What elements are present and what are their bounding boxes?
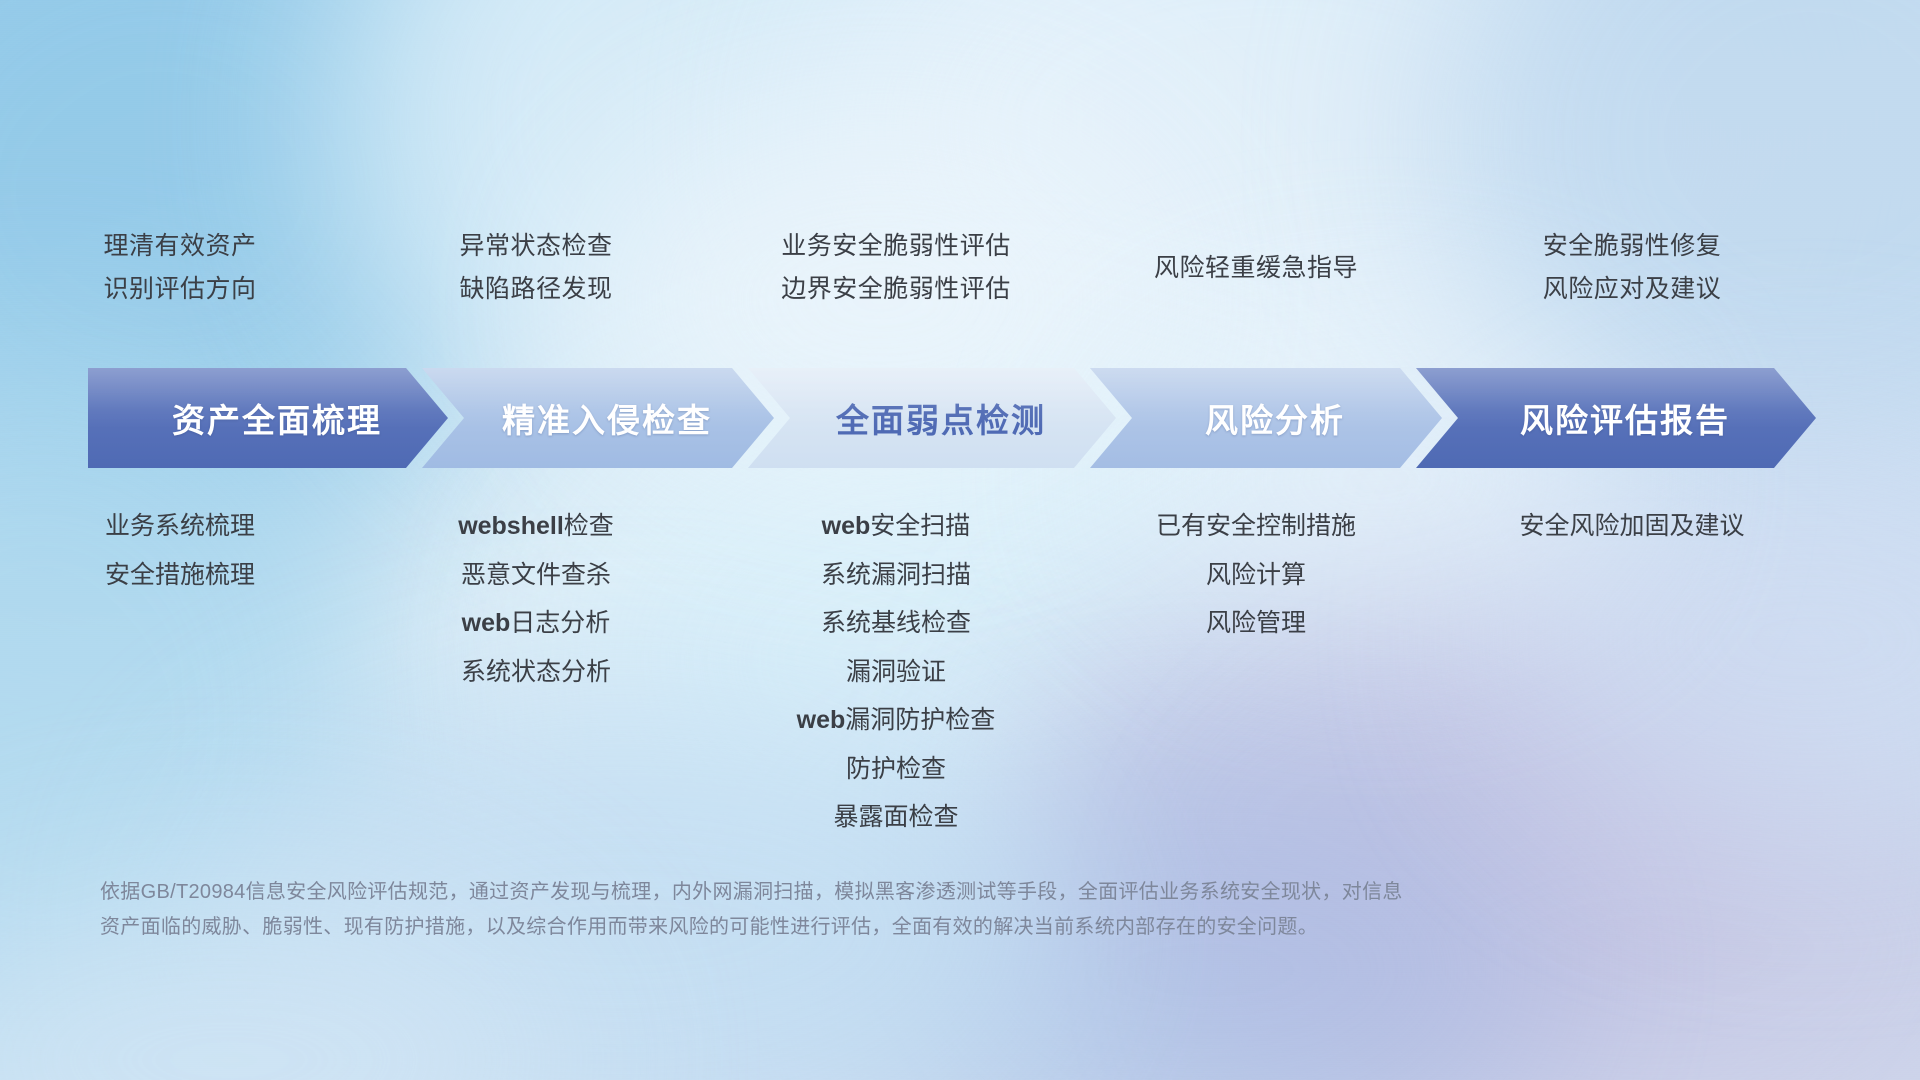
process-step-1[interactable]: 资产全面梳理	[88, 368, 448, 468]
top-captions-step-4: 风险轻重缓急指导	[1080, 230, 1432, 330]
list-item: webshell检查	[458, 510, 614, 543]
caption-text: 异常状态检查	[459, 230, 612, 263]
list-item: 安全风险加固及建议	[1519, 510, 1744, 543]
list-item: 风险计算	[1206, 559, 1306, 592]
bottom-list-step-5: 安全风险加固及建议	[1432, 510, 1832, 834]
list-item-prefix: web	[797, 706, 846, 734]
process-step-4-label: 风险分析	[1187, 394, 1345, 442]
process-step-5-label: 风险评估报告	[1502, 394, 1730, 442]
list-item: 已有安全控制措施	[1156, 510, 1356, 543]
list-item-prefix: webshell	[458, 512, 564, 540]
process-step-4[interactable]: 风险分析	[1090, 368, 1442, 468]
step-activities-bottom: 业务系统梳理 安全措施梳理 webshell检查 恶意文件查杀 web日志分析 …	[0, 510, 1920, 834]
caption-text: 安全脆弱性修复	[1543, 230, 1722, 263]
caption-text: 业务安全脆弱性评估	[781, 230, 1011, 263]
footer-line-1: 依据GB/T20984信息安全风险评估规范，通过资产发现与梳理，内外网漏洞扫描，…	[100, 875, 1660, 910]
top-captions-step-1: 理清有效资产 识别评估方向	[0, 230, 360, 330]
list-item: 系统漏洞扫描	[821, 559, 971, 592]
caption-text: 边界安全脆弱性评估	[781, 273, 1011, 306]
process-step-2-label: 精准入侵检查	[484, 394, 712, 442]
list-item-suffix: 检查	[564, 512, 614, 540]
slide-canvas: 理清有效资产 识别评估方向 异常状态检查 缺陷路径发现 业务安全脆弱性评估 边界…	[0, 0, 1920, 1080]
list-item: web日志分析	[462, 607, 611, 640]
list-item-prefix: web	[462, 609, 511, 637]
top-captions-step-3: 业务安全脆弱性评估 边界安全脆弱性评估	[712, 230, 1080, 330]
bottom-list-step-4: 已有安全控制措施 风险计算 风险管理	[1080, 510, 1432, 834]
bottom-list-step-2: webshell检查 恶意文件查杀 web日志分析 系统状态分析	[360, 510, 712, 834]
list-item: 暴露面检查	[833, 801, 958, 834]
footer-line-2: 资产面临的威胁、脆弱性、现有防护措施，以及综合作用而带来风险的可能性进行评估，全…	[100, 910, 1660, 945]
process-step-1-label: 资产全面梳理	[154, 394, 382, 442]
process-step-2[interactable]: 精准入侵检查	[422, 368, 774, 468]
caption-text: 识别评估方向	[103, 273, 256, 306]
footer-description: 依据GB/T20984信息安全风险评估规范，通过资产发现与梳理，内外网漏洞扫描，…	[100, 875, 1660, 945]
process-chevron-band: 资产全面梳理 精准入侵检查 全面弱点检测 风险分析 风险评估报告	[88, 368, 1848, 468]
list-item: 漏洞验证	[846, 656, 946, 689]
list-item: 风险管理	[1206, 607, 1306, 640]
list-item-suffix: 漏洞防护检查	[845, 706, 995, 734]
list-item-suffix: 日志分析	[510, 609, 610, 637]
bottom-list-step-3: web安全扫描 系统漏洞扫描 系统基线检查 漏洞验证 web漏洞防护检查 防护检…	[712, 510, 1080, 834]
caption-text: 风险应对及建议	[1543, 273, 1722, 306]
list-item: 安全措施梳理	[105, 559, 255, 592]
caption-text: 缺陷路径发现	[459, 273, 612, 306]
bottom-list-step-1: 业务系统梳理 安全措施梳理	[0, 510, 360, 834]
list-item: 系统状态分析	[461, 656, 611, 689]
list-item-suffix: 安全扫描	[870, 512, 970, 540]
caption-text: 理清有效资产	[103, 230, 256, 263]
list-item-prefix: web	[822, 512, 871, 540]
top-captions-step-5: 安全脆弱性修复 风险应对及建议	[1432, 230, 1832, 330]
caption-text: 风险轻重缓急指导	[1154, 252, 1358, 285]
process-step-5[interactable]: 风险评估报告	[1416, 368, 1816, 468]
list-item: 业务系统梳理	[105, 510, 255, 543]
list-item: 防护检查	[846, 753, 946, 786]
step-outcomes-top: 理清有效资产 识别评估方向 异常状态检查 缺陷路径发现 业务安全脆弱性评估 边界…	[0, 230, 1920, 330]
process-step-3-label: 全面弱点检测	[818, 394, 1046, 442]
list-item: 恶意文件查杀	[461, 559, 611, 592]
process-step-3[interactable]: 全面弱点检测	[748, 368, 1116, 468]
list-item: 系统基线检查	[821, 607, 971, 640]
list-item: web安全扫描	[822, 510, 971, 543]
top-captions-step-2: 异常状态检查 缺陷路径发现	[360, 230, 712, 330]
list-item: web漏洞防护检查	[797, 704, 996, 737]
